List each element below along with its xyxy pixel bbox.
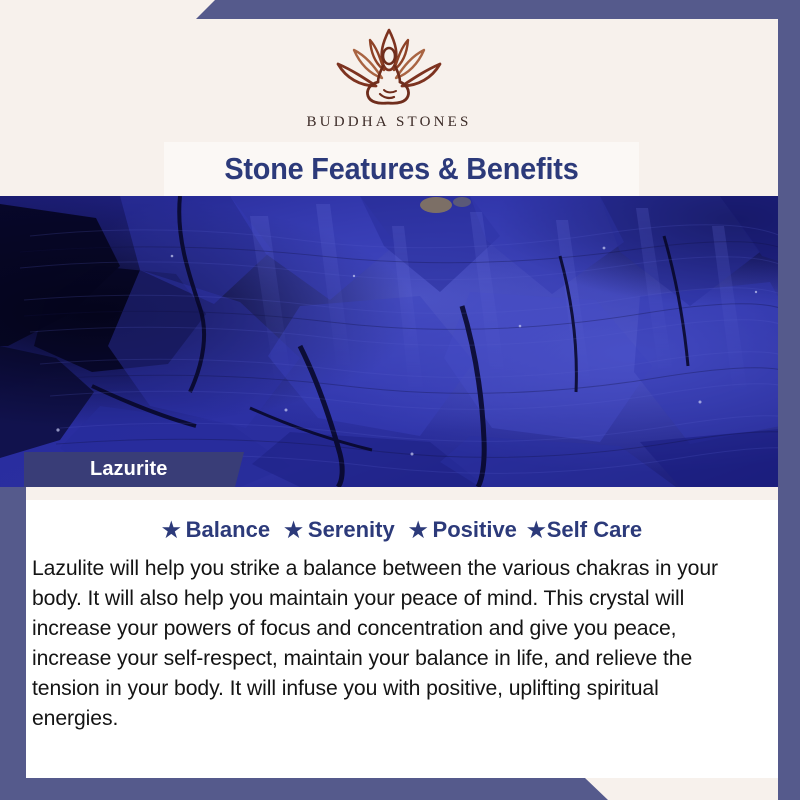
stone-photo: [0, 196, 800, 487]
star-icon: ★: [527, 520, 546, 541]
star-icon: ★: [284, 520, 303, 541]
star-icon: ★: [162, 520, 181, 541]
benefit-self-care: ★ Self Care: [527, 517, 642, 543]
frame-left-band: [0, 487, 26, 800]
benefit-balance: ★ Balance: [162, 517, 270, 543]
benefit-label: Positive: [433, 517, 517, 543]
stone-description: Lazulite will help you strike a balance …: [32, 553, 748, 733]
stone-name-banner: Lazurite: [24, 452, 244, 487]
panel-top-strip: [26, 487, 778, 500]
brand-wordmark: BUDDHA STONES: [306, 114, 471, 131]
lazurite-stone-photo-icon: [0, 196, 800, 487]
benefit-positive: ★ Positive: [409, 517, 517, 543]
brand-logo: BUDDHA STONES: [0, 24, 778, 131]
benefit-label: Balance: [186, 517, 270, 543]
benefit-label: Serenity: [308, 517, 395, 543]
lotus-meditation-figure-icon: [330, 24, 448, 112]
star-icon: ★: [409, 520, 428, 541]
frame-top-band: [0, 0, 800, 19]
stone-benefits-infographic: BUDDHA STONES Stone Features & Benefits …: [0, 0, 800, 800]
benefit-label: Self Care: [547, 517, 642, 543]
content-panel: ★ Balance ★ Serenity ★ Positive ★ Self C…: [26, 487, 778, 778]
title-plate: Stone Features & Benefits: [164, 142, 639, 196]
frame-right-band: [778, 0, 800, 800]
benefit-serenity: ★ Serenity: [284, 517, 395, 543]
benefits-row: ★ Balance ★ Serenity ★ Positive ★ Self C…: [26, 517, 778, 543]
stone-name-label: Lazurite: [24, 458, 167, 481]
page-title: Stone Features & Benefits: [224, 151, 578, 187]
